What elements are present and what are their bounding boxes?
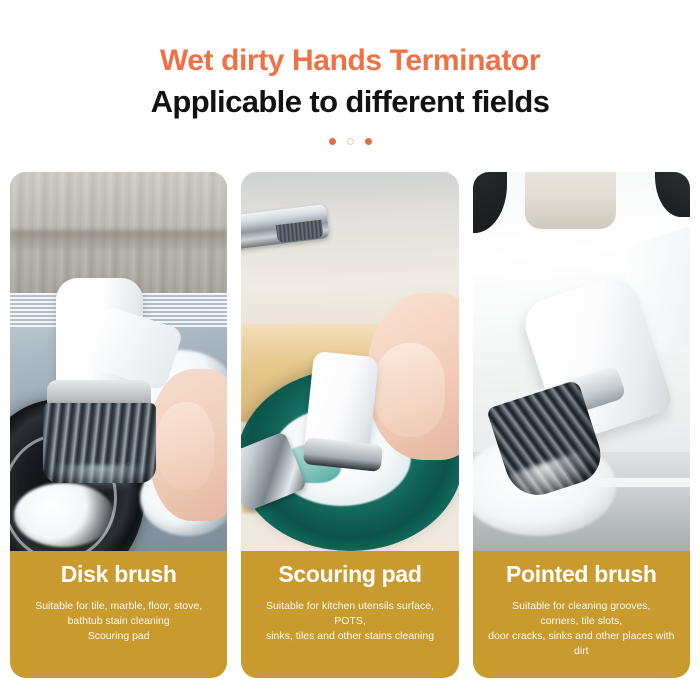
- feature-panel-list: Disk brush Suitable for tile, marble, fl…: [0, 172, 700, 678]
- scouring-pad-caption-title: Scouring pad: [241, 563, 458, 586]
- pointed-brush-caption-desc: Suitable for cleaning grooves,corners, t…: [473, 599, 690, 659]
- feature-panel-scouring-pad[interactable]: Scouring pad Suitable for kitchen utensi…: [241, 172, 458, 678]
- carousel-dot-2[interactable]: [347, 138, 354, 145]
- disk-brush-bristles-art: [43, 403, 156, 483]
- disk-brush-photo: [10, 172, 227, 551]
- carousel-dot-1[interactable]: [329, 138, 336, 145]
- carousel-dots[interactable]: [0, 136, 700, 146]
- page-header: Wet dirty Hands Terminator Applicable to…: [0, 0, 700, 146]
- pointed-brush-caption-title: Pointed brush: [473, 563, 690, 586]
- scouring-pad-caption-desc: Suitable for kitchen utensils surface, P…: [241, 599, 458, 644]
- page-subtitle: Applicable to different fields: [0, 86, 700, 117]
- feature-panel-disk-brush[interactable]: Disk brush Suitable for tile, marble, fl…: [10, 172, 227, 678]
- hand-art: [149, 369, 227, 521]
- disk-brush-caption-desc: Suitable for tile, marble, floor, stove,…: [10, 599, 227, 644]
- ceramic-pot-art: [525, 172, 616, 229]
- page-title: Wet dirty Hands Terminator: [0, 46, 700, 76]
- scouring-pad-caption: Scouring pad Suitable for kitchen utensi…: [241, 551, 458, 678]
- disk-brush-caption: Disk brush Suitable for tile, marble, fl…: [10, 551, 227, 678]
- scouring-pad-photo: [241, 172, 458, 551]
- carousel-dot-3[interactable]: [365, 138, 372, 145]
- feature-panel-pointed-brush[interactable]: Pointed brush Suitable for cleaning groo…: [473, 172, 690, 678]
- pointed-brush-photo: [473, 172, 690, 551]
- pointed-brush-caption: Pointed brush Suitable for cleaning groo…: [473, 551, 690, 678]
- disk-brush-caption-title: Disk brush: [10, 563, 227, 586]
- soap-foam-art-2: [14, 483, 114, 547]
